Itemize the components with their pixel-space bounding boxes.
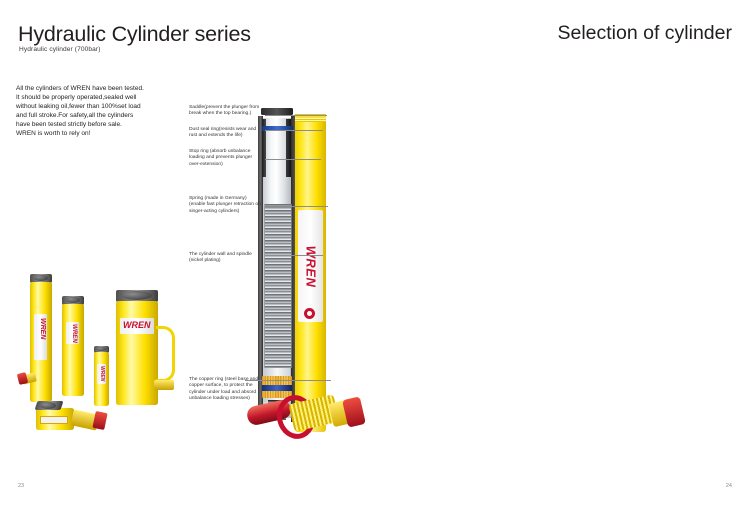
brand-name: WREN	[303, 245, 318, 287]
return-spring	[264, 204, 292, 368]
callout-dust-seal-ring: Dust seal ring(resists wear and rust and…	[189, 127, 263, 140]
callout-text: Spring (made in Germany) (enable fast pl…	[189, 196, 261, 214]
leader-line	[265, 206, 328, 207]
intro-line: WREN is worth to rely on!	[16, 129, 178, 138]
page-title: Hydraulic Cylinder series	[18, 22, 251, 47]
brand-logo-text: WREN	[298, 210, 323, 322]
callout-copper-ring: The copper ring (steel base and copper s…	[189, 377, 265, 403]
callout-text: The cylinder wall and spindle (nickel pl…	[189, 252, 252, 263]
carry-handle	[156, 326, 175, 382]
brand-mark-icon	[304, 308, 315, 319]
right-page: Selection of cylinder 1.Force selection:…	[375, 0, 750, 509]
callout-text: Dust seal ring(resists wear and rust and…	[189, 127, 256, 138]
leader-line	[265, 115, 327, 116]
intro-line: It should be properly operated,sealed we…	[16, 93, 178, 102]
page-number-right: 24	[726, 483, 732, 489]
port-fitting	[154, 380, 174, 390]
wren-logo-text: WREN	[99, 366, 105, 381]
page-number-left: 23	[18, 483, 24, 489]
label-plate	[40, 416, 68, 424]
cylinder-bore-opening	[66, 297, 80, 303]
right-page-title: Selection of cylinder	[557, 22, 732, 45]
cylinder-bore-opening	[97, 347, 106, 351]
wren-logo-text: WREN	[39, 318, 46, 339]
wren-logo-text: WREN	[123, 320, 151, 330]
intro-line: and full stroke.For safety,all the cylin…	[16, 111, 178, 120]
leader-line	[245, 380, 331, 381]
catalog-spread: Hydraulic Cylinder series Hydraulic cyli…	[0, 0, 750, 509]
product-family-illustration: WREN WREN WREN WREN	[6, 268, 191, 448]
leader-line	[265, 159, 321, 160]
callout-stop-ring: Stop ring (absorb unbalance loading and …	[189, 149, 263, 168]
port-red-cap	[92, 411, 107, 430]
leader-line	[265, 255, 323, 256]
cylinder-bore-opening	[40, 402, 56, 409]
cylinder-large	[116, 301, 158, 405]
intro-line: All the cylinders of WREN have been test…	[16, 84, 178, 93]
callout-text: Saddle(prevent the plunger from break wh…	[189, 105, 259, 116]
callout-saddle: Saddle(prevent the plunger from break wh…	[189, 105, 263, 118]
wren-logo-text: WREN	[71, 324, 78, 343]
intro-line: have been tested strictly before sale.	[16, 120, 178, 129]
cylinder-bore-opening	[122, 291, 152, 300]
intro-line: without leaking oil,fewer than 100%set l…	[16, 102, 178, 111]
cylinder-bore-opening	[34, 275, 48, 281]
callout-spring: Spring (made in Germany) (enable fast pl…	[189, 196, 263, 215]
cylinder-medium	[62, 304, 84, 396]
callout-cylinder-wall-spindle: The cylinder wall and spindle (nickel pl…	[189, 252, 263, 265]
leader-line	[265, 130, 323, 131]
callout-text: Stop ring (absorb unbalance loading and …	[189, 149, 252, 167]
page-subtitle: Hydraulic cylinder (700bar)	[19, 46, 101, 53]
left-page: Hydraulic Cylinder series Hydraulic cyli…	[0, 0, 375, 509]
intro-paragraph: All the cylinders of WREN have been test…	[16, 84, 178, 139]
